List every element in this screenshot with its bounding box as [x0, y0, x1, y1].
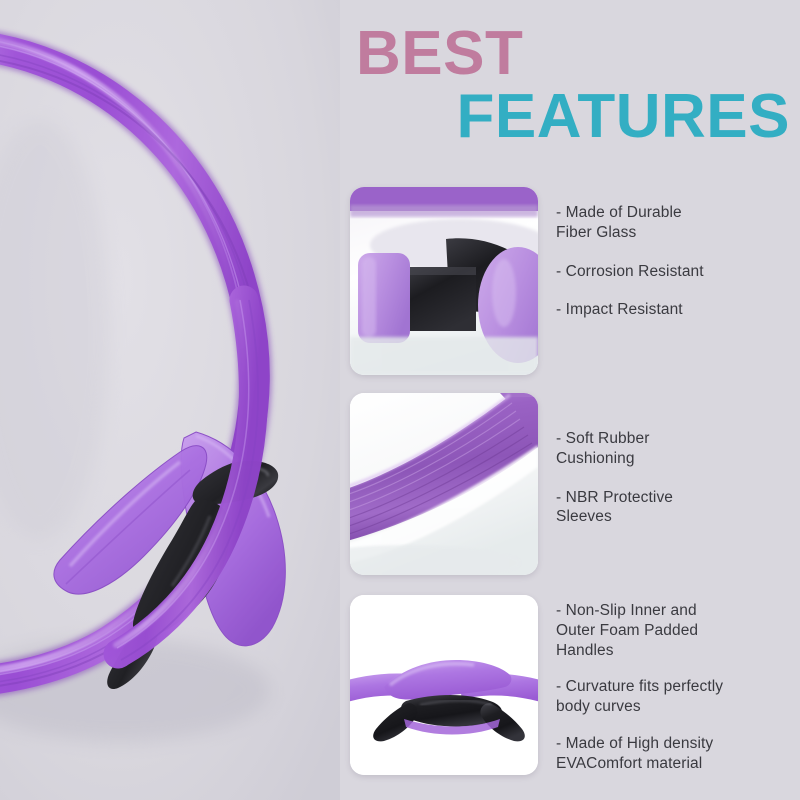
- feature-item: - Impact Resistant: [556, 300, 800, 320]
- title-line-features: FEATURES: [352, 87, 792, 148]
- feature-item: - NBR Protective Sleeves: [556, 488, 800, 528]
- feature-text-block: - Non-Slip Inner and Outer Foam Padded H…: [556, 595, 800, 791]
- feature-row: - Soft Rubber Cushioning - NBR Protectiv…: [350, 393, 800, 575]
- feature-row: - Non-Slip Inner and Outer Foam Padded H…: [350, 595, 800, 791]
- infographic-page: BEST FEATURES: [0, 0, 800, 800]
- feature-thumbnail-foam-handle[interactable]: [350, 595, 538, 775]
- feature-item: - Curvature fits perfectly body curves: [556, 677, 800, 717]
- page-title: BEST FEATURES: [352, 24, 792, 148]
- feature-text-block: - Soft Rubber Cushioning - NBR Protectiv…: [556, 393, 800, 527]
- title-line-best: BEST: [352, 24, 792, 85]
- hero-product-image: [0, 0, 340, 800]
- feature-row: - Made of Durable Fiber Glass - Corrosio…: [350, 187, 800, 375]
- feature-item: - Soft Rubber Cushioning: [556, 429, 800, 469]
- feature-item: - Non-Slip Inner and Outer Foam Padded H…: [556, 601, 800, 660]
- feature-text-block: - Made of Durable Fiber Glass - Corrosio…: [556, 187, 800, 320]
- feature-thumbnail-handle-bracket[interactable]: [350, 187, 538, 375]
- feature-item: - Made of Durable Fiber Glass: [556, 203, 800, 243]
- feature-thumbnail-ribbed-rubber[interactable]: [350, 393, 538, 575]
- feature-item: - Corrosion Resistant: [556, 262, 800, 282]
- feature-item: - Made of High density EVAComfort materi…: [556, 734, 800, 774]
